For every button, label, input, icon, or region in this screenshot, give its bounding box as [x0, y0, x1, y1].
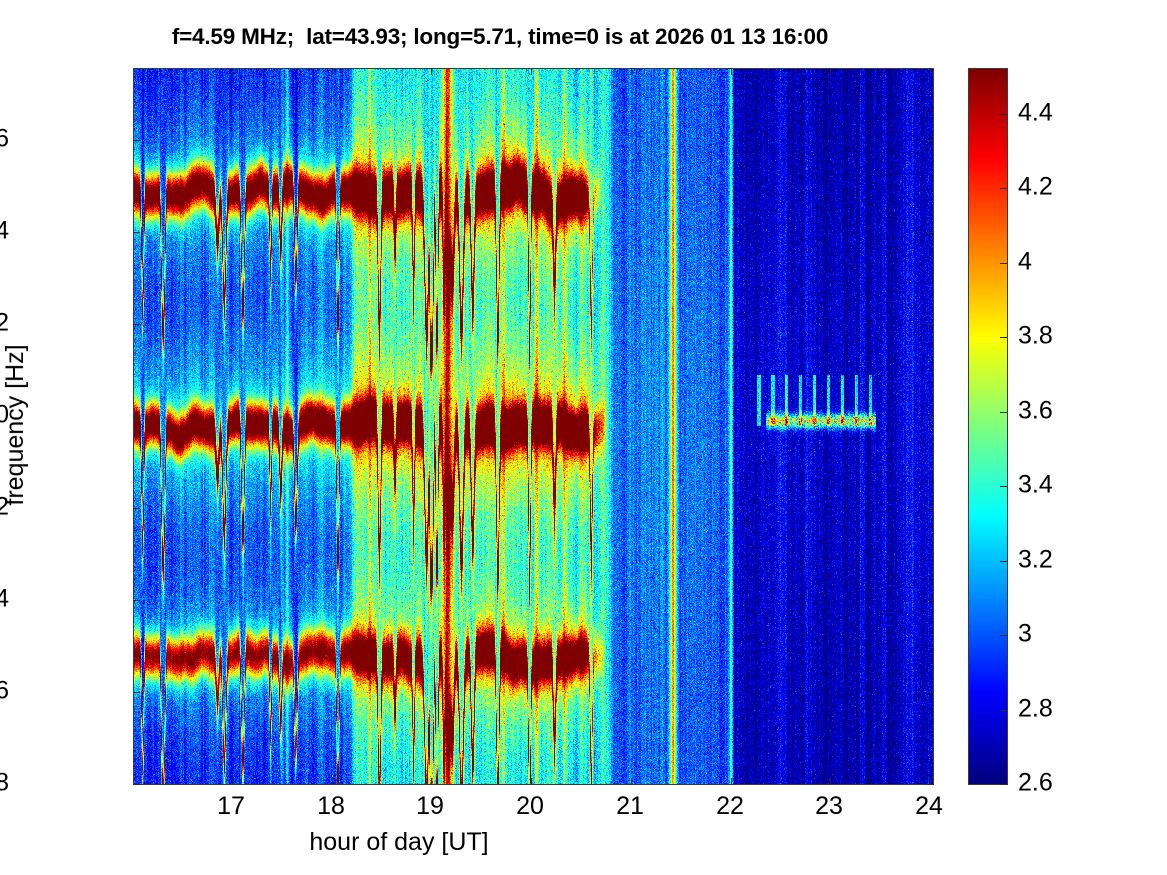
x-tick-mark [332, 778, 333, 785]
y-tick-label: 6 [0, 125, 9, 154]
colorbar-tick-mark [1000, 337, 1007, 338]
y-tick-mark [927, 600, 934, 601]
y-tick-mark [133, 232, 140, 233]
colorbar-tick-label: 3.4 [1018, 471, 1053, 500]
y-tick-mark [133, 324, 140, 325]
x-tick-mark [731, 778, 732, 785]
x-tick-mark [232, 778, 233, 785]
colorbar-tick-mark [1000, 412, 1007, 413]
colorbar-tick-mark [1000, 188, 1007, 189]
colorbar-tick-mark [1000, 486, 1007, 487]
y-tick-mark [927, 692, 934, 693]
colorbar-tick-mark [1000, 263, 1007, 264]
x-tick-mark [431, 778, 432, 785]
colorbar-tick-label: 4 [1018, 248, 1032, 277]
y-tick-label: 2 [0, 309, 9, 338]
y-tick-mark [133, 600, 140, 601]
x-tick-mark [531, 68, 532, 75]
spectrogram-axes [133, 68, 934, 785]
x-tick-mark [232, 68, 233, 75]
colorbar-tick-mark [1000, 784, 1007, 785]
x-tick-mark [431, 68, 432, 75]
y-tick-mark [927, 324, 934, 325]
y-tick-mark [927, 140, 934, 141]
colorbar-tick-mark [1000, 710, 1007, 711]
x-tick-mark [930, 778, 931, 785]
y-tick-label: -4 [0, 585, 9, 614]
y-tick-mark [133, 784, 140, 785]
y-tick-label: -8 [0, 769, 9, 798]
x-tick-label: 18 [317, 792, 345, 821]
x-tick-label: 21 [616, 792, 644, 821]
colorbar-tick-label: 2.8 [1018, 695, 1053, 724]
colorbar-tick-label: 3 [1018, 620, 1032, 649]
y-tick-mark [133, 508, 140, 509]
x-tick-mark [830, 68, 831, 75]
x-tick-mark [731, 68, 732, 75]
x-tick-mark [332, 68, 333, 75]
y-tick-mark [927, 232, 934, 233]
x-tick-label: 22 [716, 792, 744, 821]
colorbar-tick-mark [1000, 635, 1007, 636]
y-tick-mark [133, 416, 140, 417]
page-title: f=4.59 MHz; lat=43.93; long=5.71, time=0… [0, 24, 1000, 50]
y-tick-mark [133, 140, 140, 141]
colorbar [968, 68, 1008, 785]
spectrogram-image [134, 69, 933, 784]
colorbar-tick-label: 4.2 [1018, 173, 1053, 202]
x-tick-mark [631, 68, 632, 75]
x-tick-mark [631, 778, 632, 785]
colorbar-tick-label: 2.6 [1018, 769, 1053, 798]
x-tick-mark [830, 778, 831, 785]
x-tick-mark [531, 778, 532, 785]
x-tick-label: 17 [217, 792, 245, 821]
y-tick-label: 4 [0, 217, 9, 246]
x-tick-label: 19 [416, 792, 444, 821]
x-tick-label: 20 [516, 792, 544, 821]
x-tick-mark [930, 68, 931, 75]
y-tick-label: -6 [0, 677, 9, 706]
colorbar-tick-label: 3.8 [1018, 322, 1053, 351]
colorbar-tick-mark [1000, 114, 1007, 115]
y-tick-mark [133, 692, 140, 693]
colorbar-tick-mark [1000, 561, 1007, 562]
x-axis-label: hour of day [UT] [309, 828, 488, 857]
colorbar-tick-label: 3.2 [1018, 546, 1053, 575]
y-tick-mark [927, 508, 934, 509]
figure-panel: f=4.59 MHz; lat=43.93; long=5.71, time=0… [0, 0, 1167, 875]
y-axis-label: frequency [Hz] [1, 344, 30, 505]
y-tick-mark [927, 416, 934, 417]
x-tick-label: 23 [815, 792, 843, 821]
colorbar-tick-label: 3.6 [1018, 397, 1053, 426]
x-tick-label: 24 [915, 792, 943, 821]
colorbar-tick-label: 4.4 [1018, 99, 1053, 128]
colorbar-gradient [969, 69, 1007, 784]
